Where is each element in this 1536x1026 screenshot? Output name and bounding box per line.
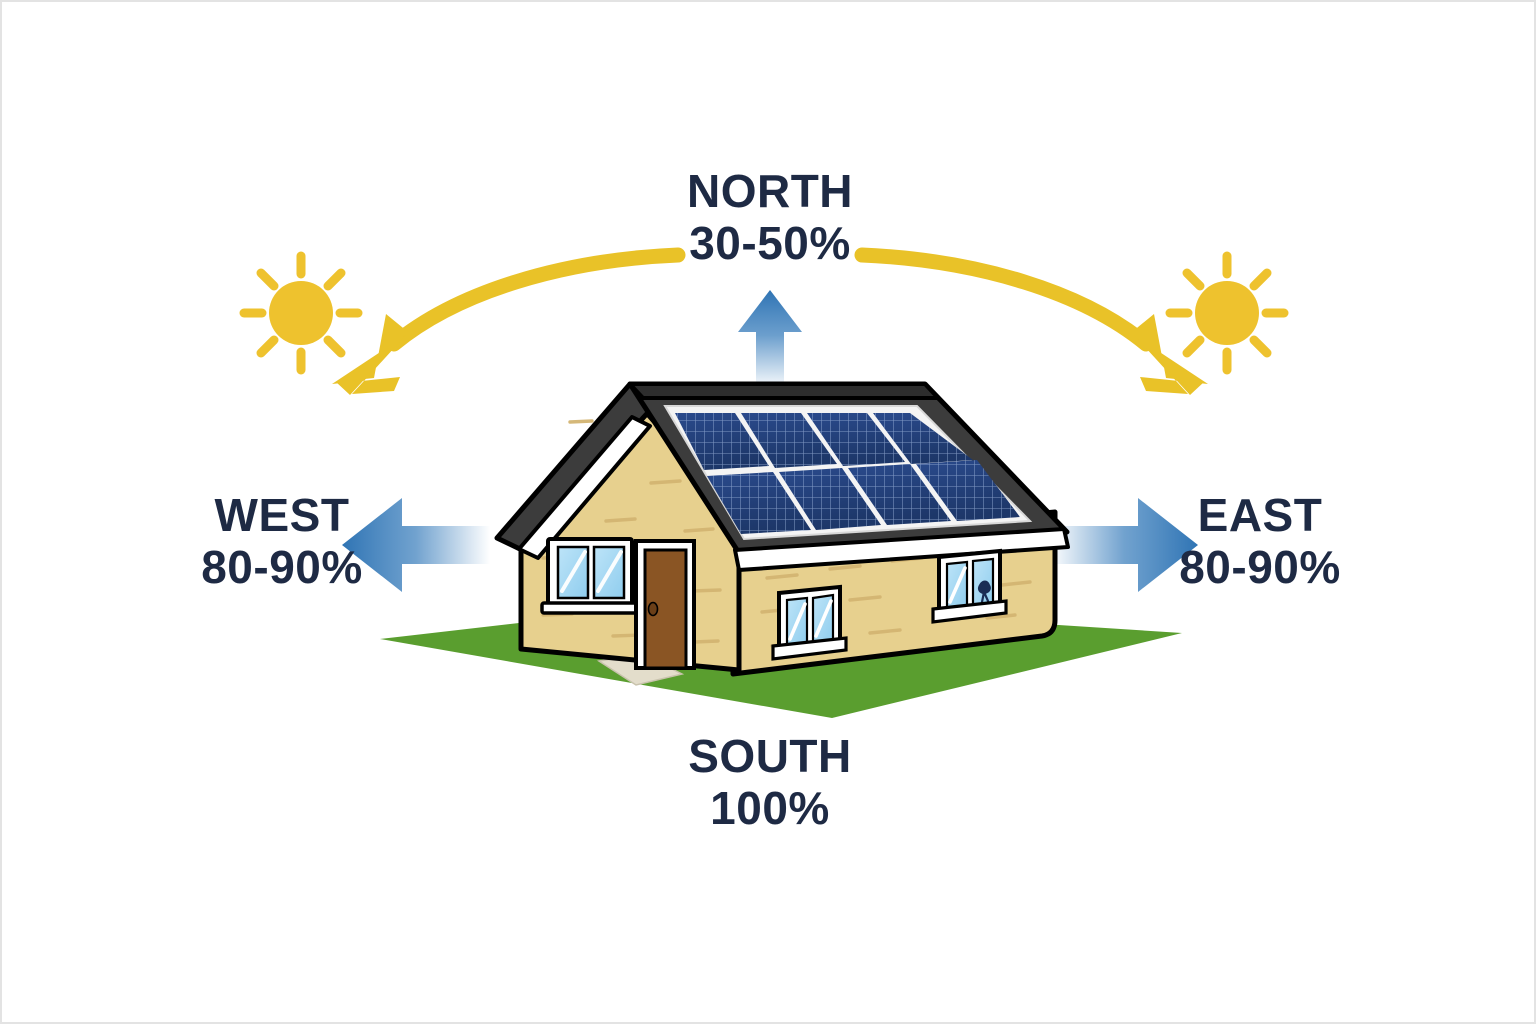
label-west-direction: WEST [132,489,432,541]
label-south-direction: SOUTH [610,730,930,782]
house [497,384,1068,674]
door-handle-icon[interactable] [649,603,658,616]
label-north-direction: NORTH [610,165,930,217]
sun-icon-left [244,256,358,370]
label-west-efficiency: 80-90% [132,541,432,593]
window-side-right [933,551,1006,622]
sun-path-arc-arrow-left-icon [332,255,678,395]
label-west: WEST 80-90% [132,489,432,594]
solar-orientation-diagram: NORTH 30-50% SOUTH 100% WEST 80-90% EAST… [0,0,1536,1024]
front-door[interactable] [636,541,694,668]
label-east-direction: EAST [1110,489,1410,541]
roof-ridge [630,384,938,398]
label-east: EAST 80-90% [1110,489,1410,594]
label-north: NORTH 30-50% [610,165,930,270]
up-arrow-icon [738,290,802,390]
sun-icon-right [1170,256,1284,370]
label-south: SOUTH 100% [610,730,930,835]
label-north-efficiency: 30-50% [610,217,930,269]
label-east-efficiency: 80-90% [1110,541,1410,593]
sun-path-arc-arrow-right-icon [862,255,1208,395]
label-south-efficiency: 100% [610,782,930,834]
window-side-left [773,587,846,659]
window-front [542,539,638,613]
